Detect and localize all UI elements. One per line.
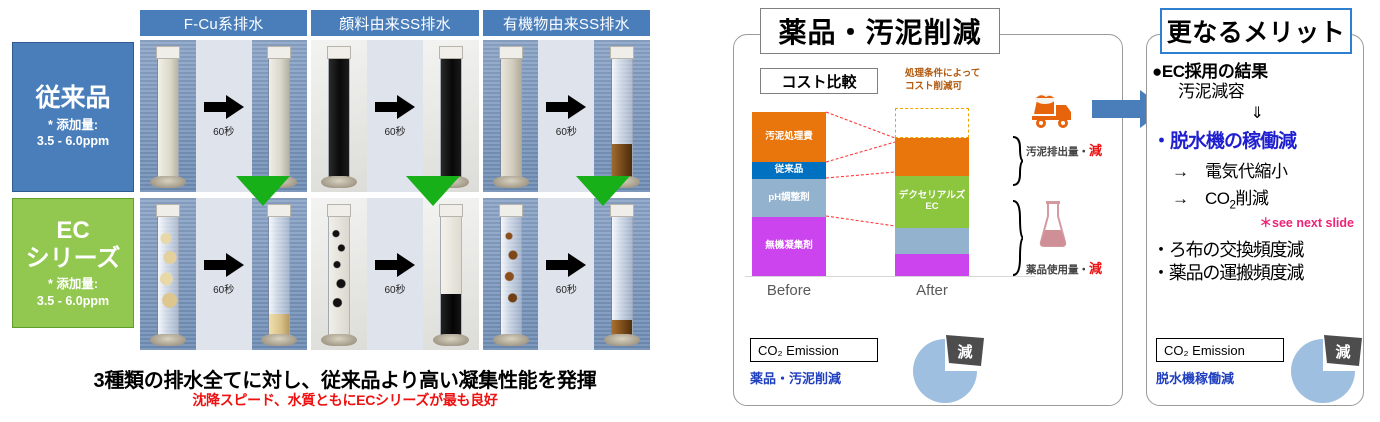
- tube-photo-after: [252, 198, 308, 350]
- transition-60s: 60秒: [196, 40, 252, 192]
- tube-photo-before: [140, 198, 196, 350]
- transition-60s: 60秒: [196, 198, 252, 350]
- bar-segment-ph-adjuster: [895, 228, 969, 254]
- tube-photo-before: [483, 198, 539, 350]
- merit-highlight: ・脱水機の稼働減: [1152, 126, 1362, 153]
- pie-badge-merit-label: 減: [1321, 333, 1365, 369]
- cost-comparison-label: コスト比較: [760, 68, 878, 94]
- bar-segment-inorganic-coagulant: 無機凝集剤: [752, 217, 826, 276]
- bar-segment-sludge-cost: [895, 138, 969, 176]
- photo-group-organic-conventional: 60秒: [483, 40, 650, 192]
- right-arrow-icon: [204, 252, 244, 278]
- photo-group-organic-ec: 60秒: [483, 198, 650, 350]
- elapsed-label: 60秒: [213, 123, 234, 138]
- tube-photo-after: [594, 40, 650, 192]
- transition-60s: 60秒: [538, 40, 594, 192]
- right-arrow-icon: [204, 94, 244, 120]
- chart-baseline: [745, 276, 1035, 277]
- bar-segment-inorganic-coagulant: [895, 254, 969, 276]
- green-down-arrow-icon: [406, 176, 460, 206]
- merit-item-1: ・ろ布の交換頻度減: [1152, 239, 1362, 262]
- merit-arrow-2-pre: → CO: [1172, 189, 1230, 208]
- photo-group-f-cu-ec: 60秒: [140, 198, 307, 350]
- co2-emission-sub-chem: 薬品・汚泥削減: [750, 368, 841, 387]
- column-header-pigment: 顔料由来SS排水: [311, 10, 478, 36]
- merit-body: ●EC採用の結果 汚泥減容 ⇓ ・脱水機の稼働減 → 電気代縮小 → CO2削減…: [1152, 62, 1362, 284]
- bar-segment-dexerials-ec: デクセリアルズ EC: [895, 176, 969, 228]
- transition-60s: 60秒: [367, 198, 423, 350]
- photo-row-ec: 60秒 60秒: [140, 198, 650, 350]
- co2-emission-sub-merit: 脱水機稼働減: [1156, 368, 1234, 387]
- tube-photo-after: [423, 40, 479, 192]
- side-note-sludge-accent: 減: [1089, 143, 1102, 158]
- merit-bullet: ●EC採用の結果: [1152, 62, 1362, 82]
- row-label-ec-title-line1: EC: [56, 217, 89, 245]
- row-label-ec-dose-value: 3.5 - 6.0ppm: [37, 293, 109, 309]
- bar-segment-sludge-cost: 汚泥処理費: [752, 112, 826, 162]
- merit-arrow-1: → 電気代縮小: [1152, 157, 1362, 182]
- connector-lines: [826, 106, 898, 286]
- tube-photo-after: [252, 40, 308, 192]
- pie-badge-chem: 減: [943, 333, 987, 369]
- merit-arrow-2-post: 削減: [1235, 189, 1268, 208]
- column-header-f-cu: F-Cu系排水: [140, 10, 307, 36]
- flask-icon: [1038, 200, 1068, 248]
- merit-down-arrow-icon: ⇓: [1152, 104, 1362, 123]
- merit-bullet-sub: 汚泥減容: [1152, 82, 1362, 102]
- green-down-arrow-icon: [236, 176, 290, 206]
- right-arrow-icon: [546, 252, 586, 278]
- co2-emission-box-merit: CO₂ Emission: [1156, 338, 1284, 362]
- co2-emission-box-chem: CO₂ Emission: [750, 338, 878, 362]
- cost-reduction-note: 処理条件によって コスト削減可: [905, 68, 1015, 94]
- bar-segment-ph-adjuster: pH調整剤: [752, 179, 826, 217]
- side-note-chemical-usage: 薬品使用量・減: [1026, 258, 1102, 277]
- row-label-conventional-dose-value: 3.5 - 6.0ppm: [37, 133, 109, 149]
- chem-panel-title: 薬品・汚泥削減: [760, 8, 1000, 54]
- merit-item-2: ・薬品の運搬頻度減: [1152, 262, 1362, 285]
- row-label-conventional: 従来品 * 添加量: 3.5 - 6.0ppm: [12, 42, 134, 192]
- caption-sub: 沈降スピード、水質ともにECシリーズが最も良好: [0, 390, 690, 410]
- bar-segment-potential-reduction: [895, 108, 969, 138]
- cost-reduction-note-line1: 処理条件によって: [905, 68, 1015, 81]
- tube-photo-after: [423, 198, 479, 350]
- bar-segment-dexerials-ec-line2: EC: [925, 202, 938, 213]
- pie-badge-chem-label: 減: [943, 333, 987, 369]
- caption-main: 3種類の排水全てに対し、従来品より高い凝集性能を発揮: [0, 364, 690, 393]
- elapsed-label: 60秒: [384, 281, 405, 296]
- pie-badge-merit: 減: [1321, 333, 1365, 369]
- row-label-conventional-title: 従来品: [35, 85, 110, 113]
- side-note-chemical-text: 薬品使用量・: [1026, 264, 1089, 276]
- tube-photo-before: [140, 40, 196, 192]
- tube-photo-before: [311, 198, 367, 350]
- bar-segment-conventional: 従来品: [752, 162, 826, 179]
- row-label-ec: EC シリーズ * 添加量: 3.5 - 6.0ppm: [12, 198, 134, 328]
- transition-60s: 60秒: [367, 40, 423, 192]
- dump-truck-icon: [1028, 92, 1074, 132]
- tube-photo-after: [594, 198, 650, 350]
- tube-photo-before: [311, 40, 367, 192]
- bracket-chemical: [1011, 200, 1023, 276]
- row-label-ec-title-line2: シリーズ: [26, 245, 121, 273]
- axis-label-after: After: [877, 282, 987, 299]
- tube-photo-before: [483, 40, 539, 192]
- elapsed-label: 60秒: [556, 123, 577, 138]
- side-note-chemical-accent: 減: [1089, 261, 1102, 276]
- merit-panel-title: 更なるメリット: [1160, 8, 1352, 54]
- merit-arrow-2: → CO2削減: [1152, 184, 1362, 211]
- column-headers: F-Cu系排水 顔料由来SS排水 有機物由来SS排水: [140, 10, 650, 36]
- merit-footnote: ＊see next slide: [1152, 212, 1362, 231]
- side-note-sludge-discharge: 汚泥排出量・減: [1026, 140, 1102, 159]
- elapsed-label: 60秒: [556, 281, 577, 296]
- transition-60s: 60秒: [538, 198, 594, 350]
- right-arrow-icon: [375, 94, 415, 120]
- coagulation-test-panel: F-Cu系排水 顔料由来SS排水 有機物由来SS排水 従来品 * 添加量: 3.…: [0, 0, 700, 422]
- green-down-arrow-icon: [576, 176, 630, 206]
- row-label-conventional-dose-label: * 添加量:: [48, 117, 98, 133]
- side-note-sludge-text: 汚泥排出量・: [1026, 146, 1089, 158]
- photo-group-pigment-ec: 60秒: [311, 198, 478, 350]
- axis-label-before: Before: [734, 282, 844, 299]
- photo-group-pigment-conventional: 60秒: [311, 40, 478, 192]
- elapsed-label: 60秒: [213, 281, 234, 296]
- bar-after: デクセリアルズ EC: [895, 108, 969, 276]
- right-arrow-icon: [375, 252, 415, 278]
- bracket-sludge: [1011, 136, 1023, 186]
- right-arrow-icon: [546, 94, 586, 120]
- photo-row-conventional: 60秒 60秒: [140, 40, 650, 192]
- cost-reduction-note-line2: コスト削減可: [905, 81, 1015, 94]
- photo-group-f-cu-conventional: 60秒: [140, 40, 307, 192]
- row-label-ec-dose-label: * 添加量:: [48, 276, 98, 292]
- column-header-organic: 有機物由来SS排水: [483, 10, 650, 36]
- elapsed-label: 60秒: [384, 123, 405, 138]
- bar-before: 汚泥処理費 従来品 pH調整剤 無機凝集剤: [752, 112, 826, 276]
